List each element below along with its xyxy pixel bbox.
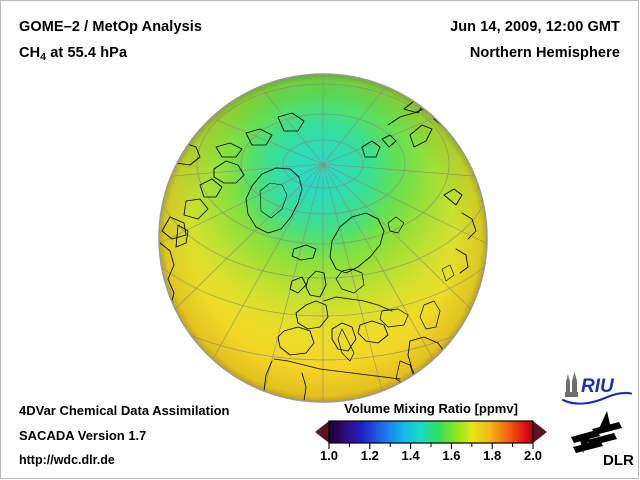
colorbar-tick-label: 1.6 bbox=[442, 448, 460, 463]
region-label: Northern Hemisphere bbox=[470, 45, 620, 61]
timestamp-label: Jun 14, 2009, 12:00 GMT bbox=[450, 19, 620, 35]
colorbar: Volume Mixing Ratio [ppmv] 1.01.21.41.61… bbox=[313, 401, 549, 471]
riu-wordmark: RIU bbox=[581, 376, 615, 397]
colorbar-tick-labels: 1.01.21.41.61.82.0 bbox=[313, 448, 549, 468]
colorbar-tick-label: 1.4 bbox=[402, 448, 420, 463]
version-label: SACADA Version 1.7 bbox=[19, 428, 146, 443]
colorbar-tick-label: 1.8 bbox=[483, 448, 501, 463]
figure-frame: GOME–2 / MetOp Analysis CH4 at 55.4 hPa … bbox=[0, 0, 639, 479]
colorbar-gradient bbox=[329, 421, 533, 443]
colorbar-scale bbox=[313, 420, 549, 450]
dlr-star-icon bbox=[571, 411, 622, 453]
source-url[interactable]: http://wdc.dlr.de bbox=[19, 453, 115, 467]
riu-logo: RIU bbox=[561, 370, 633, 406]
dlr-logo: DLR bbox=[567, 409, 637, 471]
pressure-level: at 55.4 hPa bbox=[46, 45, 127, 61]
colorbar-tick-label: 1.2 bbox=[361, 448, 379, 463]
method-label: 4DVar Chemical Data Assimilation bbox=[19, 403, 230, 418]
colorbar-cap-high bbox=[533, 421, 547, 443]
species-level-label: CH4 at 55.4 hPa bbox=[19, 45, 127, 63]
colorbar-tick-label: 2.0 bbox=[524, 448, 542, 463]
dlr-wordmark: DLR bbox=[603, 452, 634, 469]
colorbar-cap-low bbox=[315, 421, 329, 443]
colorbar-tick-label: 1.0 bbox=[320, 448, 338, 463]
species-name: CH bbox=[19, 45, 40, 61]
cathedral-spires-icon bbox=[565, 372, 578, 397]
colorbar-title: Volume Mixing Ratio [ppmv] bbox=[313, 401, 549, 416]
page-title: GOME–2 / MetOp Analysis bbox=[19, 19, 202, 35]
globe-map bbox=[156, 73, 490, 403]
